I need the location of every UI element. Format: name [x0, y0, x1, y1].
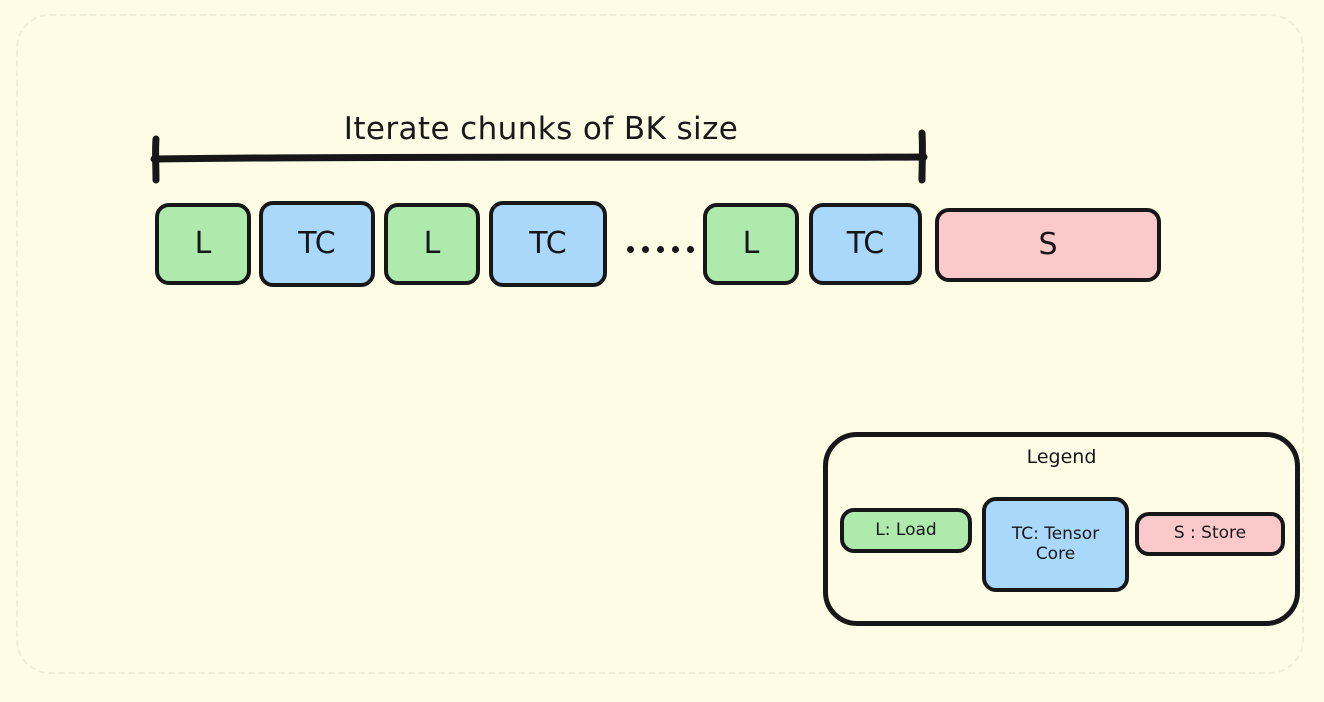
diagram-canvas: Iterate chunks of BK size LTCLTCLTCS Leg…: [0, 0, 1324, 702]
legend-title: Legend: [823, 446, 1300, 468]
pipeline-step-label: L: [195, 227, 212, 261]
bracket-svg: [150, 128, 932, 186]
ellipsis-dot: [657, 246, 664, 253]
ellipsis-dot: [672, 246, 679, 253]
pipeline-step-l-0: L: [155, 203, 251, 285]
ellipsis-dot: [687, 246, 694, 253]
iterate-range-bracket: [150, 128, 932, 186]
pipeline-step-tc-1: TC: [259, 201, 375, 287]
pipeline-step-label: L: [743, 227, 760, 261]
legend-item-green: L: Load: [840, 508, 972, 553]
pipeline-step-label: TC: [847, 227, 885, 261]
pipeline-step-l-4: L: [703, 203, 799, 285]
pipeline-step-label: TC: [298, 227, 336, 261]
legend-item-label: TC: Tensor Core: [992, 525, 1119, 563]
legend-item-label: S : Store: [1174, 524, 1246, 543]
legend-item-label: L: Load: [875, 521, 936, 540]
pipeline-step-label: L: [424, 227, 441, 261]
pipeline-step-label: S: [1038, 228, 1057, 262]
pipeline-step-s-6: S: [935, 208, 1161, 282]
ellipsis-dot: [627, 246, 634, 253]
legend-item-blue: TC: Tensor Core: [982, 497, 1129, 592]
legend-item-pink: S : Store: [1135, 512, 1285, 556]
pipeline-step-tc-3: TC: [489, 201, 607, 287]
pipeline-step-label: TC: [529, 227, 567, 261]
pipeline-step-tc-5: TC: [809, 203, 922, 285]
pipeline-step-l-2: L: [384, 203, 480, 285]
ellipsis-dot: [642, 246, 649, 253]
pipeline-ellipsis: [627, 246, 694, 253]
